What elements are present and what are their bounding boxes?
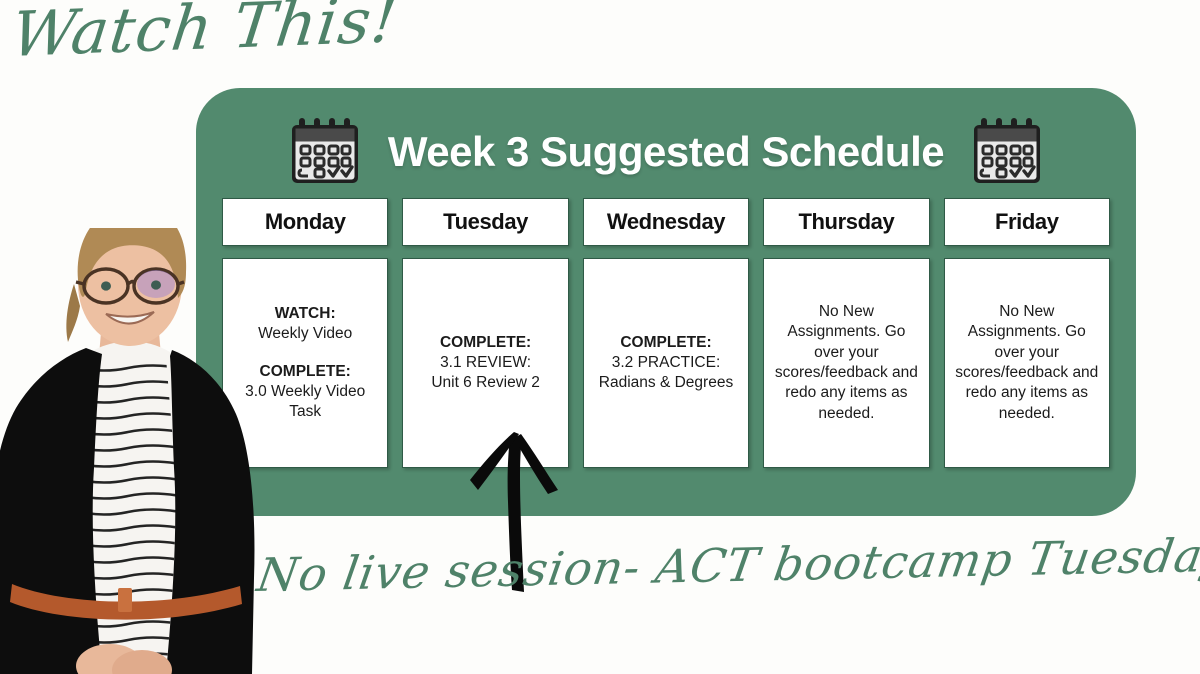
day-header-wednesday[interactable]: Wednesday [583,198,749,246]
task-block: WATCH: Weekly Video [258,304,352,344]
task-label: WATCH: [258,304,352,324]
day-cell-friday[interactable]: No New Assignments. Go over your scores/… [944,258,1110,468]
page-title: Week 3 Suggested Schedule [388,128,944,176]
task-block: COMPLETE: 3.1 REVIEW: Unit 6 Review 2 [431,333,540,392]
day-header-tuesday[interactable]: Tuesday [402,198,568,246]
task-paragraph: No New Assignments. Go over your scores/… [955,302,1099,425]
task-subdetail: Unit 6 Review 2 [431,373,540,393]
task-paragraph: No New Assignments. Go over your scores/… [774,302,918,425]
day-label: Tuesday [443,209,528,235]
day-header-friday[interactable]: Friday [944,198,1110,246]
calendar-icon [288,116,362,188]
schedule-header: Week 3 Suggested Schedule [196,106,1136,198]
task-detail: 3.2 PRACTICE: [599,353,733,373]
day-header-thursday[interactable]: Thursday [763,198,929,246]
task-detail: 3.1 REVIEW: [431,353,540,373]
schedule-grid: Monday WATCH: Weekly Video COMPLETE: 3.0… [222,198,1110,468]
day-cell-wednesday[interactable]: COMPLETE: 3.2 PRACTICE: Radians & Degree… [583,258,749,468]
day-label: Thursday [798,209,894,235]
task-block: COMPLETE: 3.2 PRACTICE: Radians & Degree… [599,333,733,392]
schedule-panel: Week 3 Suggested Schedule [196,88,1136,516]
calendar-icon [970,116,1044,188]
footer-note: No live session- ACT bootcamp Tuesday @1… [254,523,1200,602]
day-cell-thursday[interactable]: No New Assignments. Go over your scores/… [763,258,929,468]
day-label: Monday [265,209,346,235]
task-detail: Weekly Video [258,324,352,344]
schedule-column-friday: Friday No New Assignments. Go over your … [944,198,1110,468]
schedule-column-wednesday: Wednesday COMPLETE: 3.2 PRACTICE: Radian… [583,198,749,468]
task-label: COMPLETE: [431,333,540,353]
presenter-photo [0,228,270,674]
schedule-column-thursday: Thursday No New Assignments. Go over you… [763,198,929,468]
slide-canvas: Watch This! [0,0,1200,674]
schedule-column-tuesday: Tuesday COMPLETE: 3.1 REVIEW: Unit 6 Rev… [402,198,568,468]
day-label: Friday [995,209,1059,235]
day-label: Wednesday [607,209,725,235]
task-label: COMPLETE: [599,333,733,353]
watch-this-headline: Watch This! [8,0,401,67]
day-cell-tuesday[interactable]: COMPLETE: 3.1 REVIEW: Unit 6 Review 2 [402,258,568,468]
task-subdetail: Radians & Degrees [599,373,733,393]
